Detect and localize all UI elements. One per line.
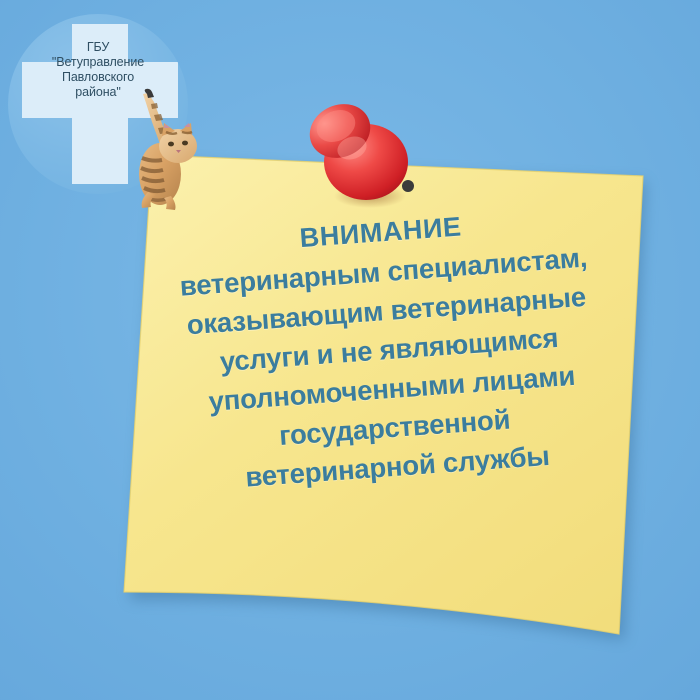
red-pushpin-icon bbox=[296, 100, 424, 210]
poster-canvas: ГБУ "Ветуправление Павловского района" bbox=[0, 0, 700, 700]
logo-line-3: Павловского bbox=[8, 70, 188, 85]
logo-line-4: района" bbox=[8, 85, 188, 100]
note-text-block: ВНИМАНИЕ ветеринарным специалистам, оказ… bbox=[141, 195, 637, 502]
logo-line-1: ГБУ bbox=[8, 40, 188, 55]
logo-line-2: "Ветуправление bbox=[8, 55, 188, 70]
organization-logo-text: ГБУ "Ветуправление Павловского района" bbox=[8, 40, 188, 100]
